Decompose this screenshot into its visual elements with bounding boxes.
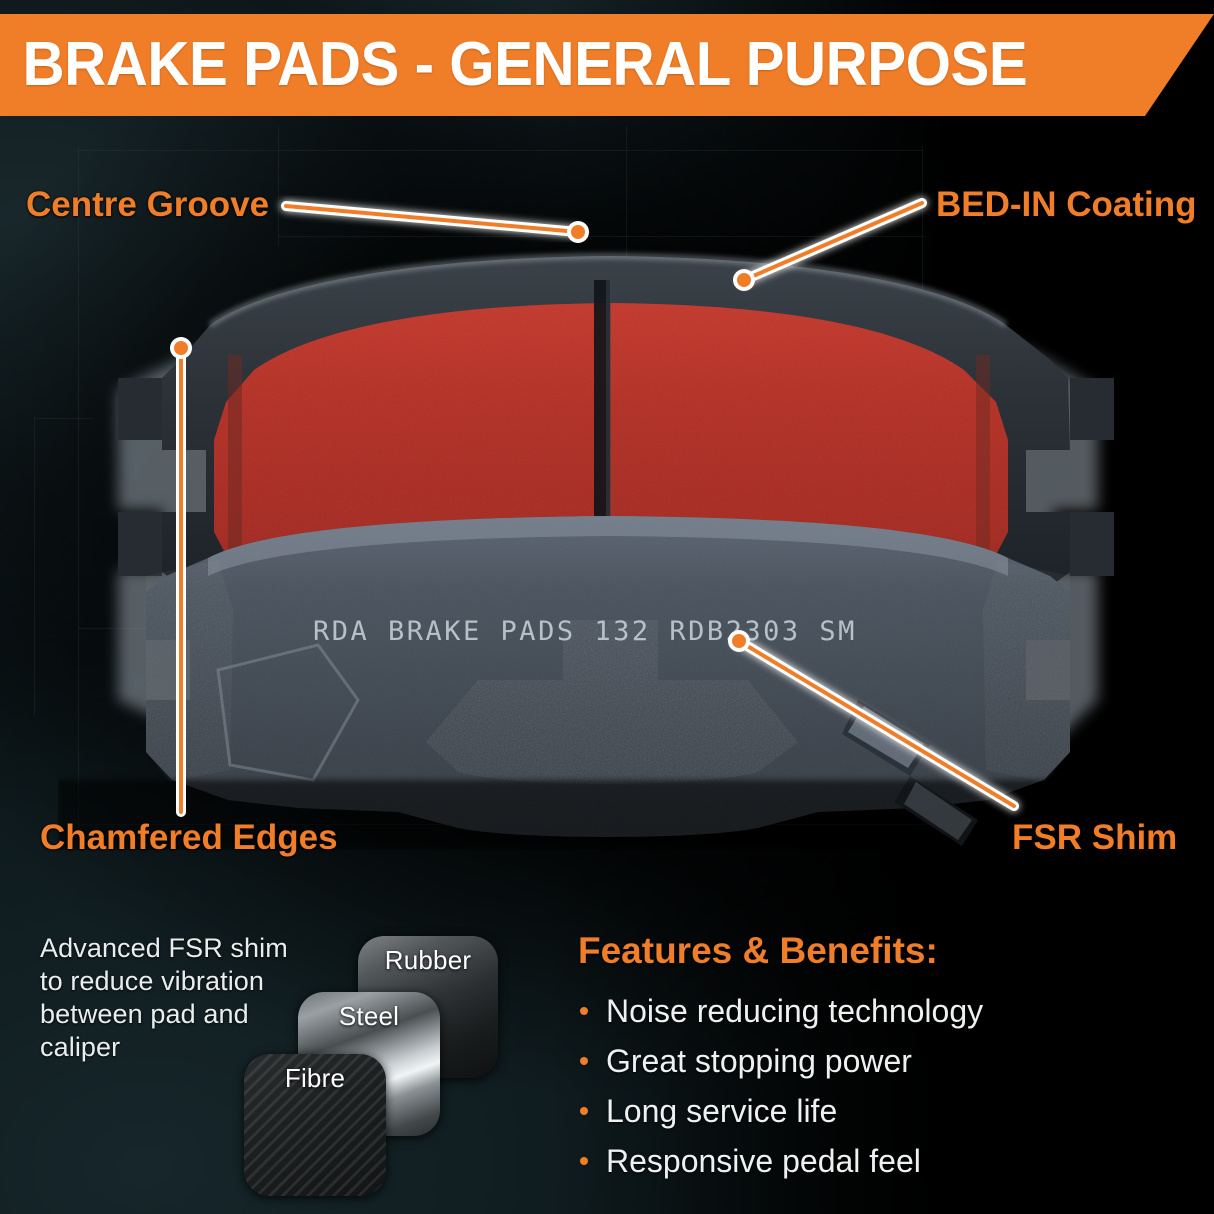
feature-item: Noise reducing technology: [578, 986, 1118, 1036]
shim-layer-fibre: Fibre: [244, 1054, 386, 1196]
callout-label-fsr-shim: FSR Shim: [1012, 818, 1177, 858]
feature-item-label: Long service life: [606, 1093, 837, 1129]
feature-item-label: Responsive pedal feel: [606, 1143, 921, 1179]
bullet-icon: [580, 1157, 588, 1165]
features-list: Noise reducing technology Great stopping…: [578, 986, 1118, 1186]
header-banner: BRAKE PADS - GENERAL PURPOSE: [0, 14, 1214, 116]
shim-layer-steel-label: Steel: [339, 992, 399, 1032]
bullet-icon: [580, 1007, 588, 1015]
product-stamp: RDA BRAKE PADS 132 RDB2303 SM: [313, 616, 857, 647]
callout-label-centre-groove: Centre Groove: [26, 185, 269, 225]
shim-layer-fibre-label: Fibre: [285, 1054, 345, 1094]
shim-layer-diagram: Rubber Steel Fibre: [240, 930, 510, 1190]
callout-label-bed-in-coating: BED-IN Coating: [936, 185, 1197, 225]
feature-item: Responsive pedal feel: [578, 1136, 1118, 1186]
brake-pad-infographic: BRAKE PADS - GENERAL PURPOSE: [0, 0, 1214, 1214]
brake-pad-illustration: RDA BRAKE PADS 132 RDB2303 SM: [58, 140, 1158, 850]
page-title: BRAKE PADS - GENERAL PURPOSE: [0, 34, 1027, 96]
features-section: Features & Benefits: Noise reducing tech…: [578, 930, 1118, 1186]
feature-item-label: Noise reducing technology: [606, 993, 983, 1029]
shim-layer-rubber-label: Rubber: [385, 936, 471, 976]
bullet-icon: [580, 1057, 588, 1065]
bullet-icon: [580, 1107, 588, 1115]
feature-item-label: Great stopping power: [606, 1043, 912, 1079]
features-title: Features & Benefits:: [578, 930, 1118, 972]
feature-item: Great stopping power: [578, 1036, 1118, 1086]
callout-label-chamfered-edges: Chamfered Edges: [40, 818, 338, 858]
feature-item: Long service life: [578, 1086, 1118, 1136]
